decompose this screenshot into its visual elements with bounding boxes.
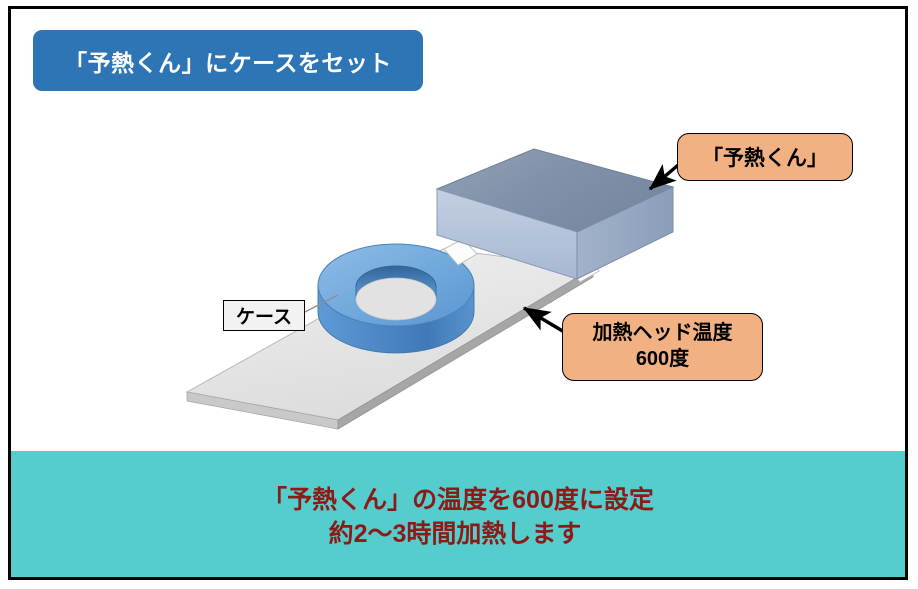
callout-case-label: ケース [236,302,292,329]
callout-case: ケース [223,300,305,331]
callout-heater-temperature-line1: 加熱ヘッド温度 [593,321,733,347]
assembly-illustration [11,9,905,451]
callout-yonetsu-kun: 「予熱くん」 [677,133,853,181]
bottom-instruction-line1: 「予熱くん」の温度を600度に設定 [262,483,654,518]
callout-heater-temperature-line2: 600度 [636,347,689,373]
callout-yonetsu-kun-label: 「予熱くん」 [702,142,828,172]
callout-heater-temperature: 加熱ヘッド温度 600度 [562,313,763,381]
slide-canvas: 「予熱くん」にケースをセット [8,6,908,580]
bottom-instruction-banner: 「予熱くん」の温度を600度に設定 約2〜3時間加熱します [11,451,905,577]
blue-ring-case [318,244,474,353]
illustration-area [11,9,905,451]
bottom-instruction-line2: 約2〜3時間加熱します [329,517,582,552]
